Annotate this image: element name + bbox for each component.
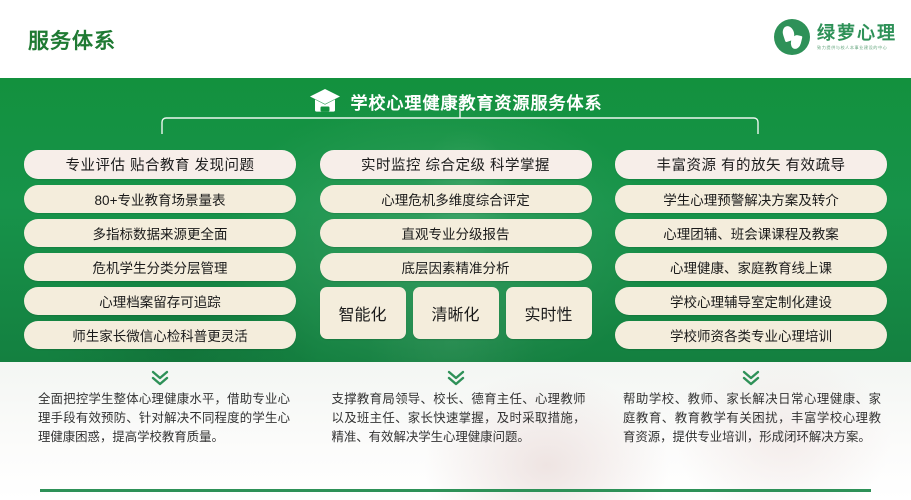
page-header: 服务体系 绿萝心理 致力提供与校人本事业建设的中心: [0, 0, 911, 78]
footer-rule: [40, 489, 871, 492]
column-assessment: 专业评估 贴合教育 发现问题 80+专业教育场景量表 多指标数据来源更全面 危机…: [24, 150, 296, 349]
feature-pill[interactable]: 学校师资各类专业心理培训: [615, 321, 887, 349]
column-resources: 丰富资源 有的放矢 有效疏导 学生心理预警解决方案及转介 心理团辅、班会课课程及…: [615, 150, 887, 349]
summary-text: 全面把控学生整体心理健康水平，借助专业心理手段有效预防、针对解决不同程度的学生心…: [24, 390, 296, 447]
tag-box[interactable]: 清晰化: [413, 287, 499, 339]
feature-pill[interactable]: 心理档案留存可追踪: [24, 287, 296, 315]
feature-pill[interactable]: 学校心理辅导室定制化建设: [615, 287, 887, 315]
feature-pill[interactable]: 底层因素精准分析: [320, 253, 592, 281]
logo-subtitle: 致力提供与校人本事业建设的中心: [817, 46, 897, 50]
service-system-panel: 学校心理健康教育资源服务体系 专业评估 贴合教育 发现问题 80+专业教育场景量…: [0, 78, 911, 362]
column-head-pill[interactable]: 实时监控 综合定级 科学掌握: [320, 150, 592, 179]
tag-box[interactable]: 实时性: [506, 287, 592, 339]
double-chevron-down-icon: [151, 370, 169, 386]
feature-pill[interactable]: 心理团辅、班会课课程及教案: [615, 219, 887, 247]
summary-text: 帮助学校、教师、家长解决日常心理健康、家庭教育、教育教学有关困扰，丰富学校心理教…: [615, 390, 887, 447]
feature-pill[interactable]: 心理危机多维度综合评定: [320, 185, 592, 213]
feature-pill[interactable]: 直观专业分级报告: [320, 219, 592, 247]
double-chevron-down-icon: [742, 370, 760, 386]
summary-section: 全面把控学生整体心理健康水平，借助专业心理手段有效预防、针对解决不同程度的学生心…: [0, 362, 911, 500]
columns-container: 专业评估 贴合教育 发现问题 80+专业教育场景量表 多指标数据来源更全面 危机…: [0, 150, 911, 349]
leaf-circle-logo-icon: [774, 19, 810, 55]
tag-box-row: 智能化 清晰化 实时性: [320, 287, 592, 339]
logo-name: 绿萝心理: [817, 24, 897, 42]
column-head-pill[interactable]: 丰富资源 有的放矢 有效疏导: [615, 150, 887, 179]
page-title: 服务体系: [28, 25, 116, 55]
feature-pill[interactable]: 80+专业教育场景量表: [24, 185, 296, 213]
feature-pill[interactable]: 多指标数据来源更全面: [24, 219, 296, 247]
feature-pill[interactable]: 师生家长微信心检科普更灵活: [24, 321, 296, 349]
brand-logo: 绿萝心理 致力提供与校人本事业建设的中心: [774, 19, 897, 55]
column-monitoring: 实时监控 综合定级 科学掌握 心理危机多维度综合评定 直观专业分级报告 底层因素…: [320, 150, 592, 349]
column-head-pill[interactable]: 专业评估 贴合教育 发现问题: [24, 150, 296, 179]
tag-box[interactable]: 智能化: [320, 287, 406, 339]
summary-column-3: 帮助学校、教师、家长解决日常心理健康、家庭教育、教育教学有关困扰，丰富学校心理教…: [615, 366, 887, 500]
logo-text-block: 绿萝心理 致力提供与校人本事业建设的中心: [817, 24, 897, 50]
feature-pill[interactable]: 心理健康、家庭教育线上课: [615, 253, 887, 281]
school-cap-icon: [309, 88, 341, 114]
summary-text: 支撑教育局领导、校长、德育主任、心理教师以及班主任、家长快速掌握，及时采取措施，…: [320, 390, 592, 447]
feature-pill[interactable]: 危机学生分类分层管理: [24, 253, 296, 281]
summary-column-2: 支撑教育局领导、校长、德育主任、心理教师以及班主任、家长快速掌握，及时采取措施，…: [320, 366, 592, 500]
feature-pill[interactable]: 学生心理预警解决方案及转介: [615, 185, 887, 213]
panel-title-row: 学校心理健康教育资源服务体系: [0, 88, 911, 114]
summary-columns: 全面把控学生整体心理健康水平，借助专业心理手段有效预防、针对解决不同程度的学生心…: [0, 362, 911, 500]
summary-column-1: 全面把控学生整体心理健康水平，借助专业心理手段有效预防、针对解决不同程度的学生心…: [24, 366, 296, 500]
double-chevron-down-icon: [447, 370, 465, 386]
panel-title: 学校心理健康教育资源服务体系: [351, 89, 603, 114]
